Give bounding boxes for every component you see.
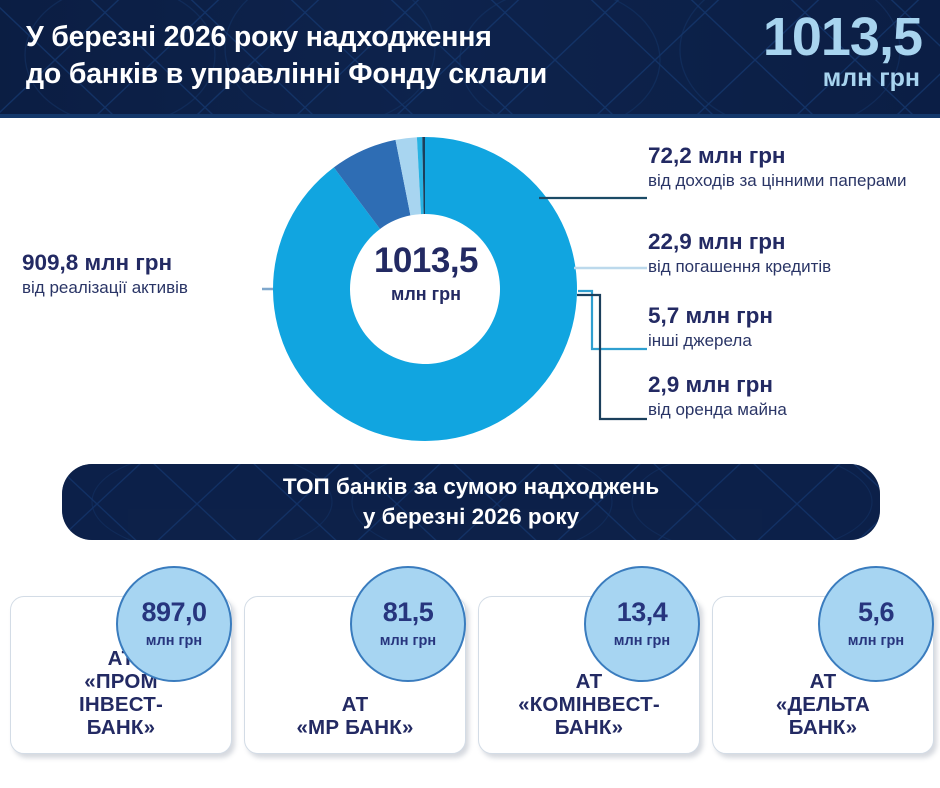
bank-amount-unit: млн грн [848, 634, 904, 649]
bank-amount-bubble: 13,4 млн грн [584, 566, 700, 682]
callout-other-value: 5,7 млн грн [648, 304, 938, 328]
callout-assets: 909,8 млн грн від реалізації активів [22, 251, 272, 297]
callout-securities: 72,2 млн грн від доходів за цінними папе… [648, 144, 938, 190]
callout-credits-value: 22,9 млн грн [648, 230, 938, 254]
bank-amount-unit: млн грн [380, 634, 436, 649]
header-banner: У березні 2026 року надходження до банкі… [0, 0, 940, 118]
callout-rent: 2,9 млн грн від оренда майна [648, 373, 938, 419]
header-title: У березні 2026 року надходження до банкі… [26, 19, 646, 93]
bank-name: АТ «КОМІНВЕСТ- БАНК» [479, 671, 699, 740]
callout-assets-value: 909,8 млн грн [22, 251, 272, 275]
callout-securities-value: 72,2 млн грн [648, 144, 938, 168]
callout-credits: 22,9 млн грн від погашення кредитів [648, 230, 938, 276]
banner-text: ТОП банків за сумою надходжень у березні… [62, 464, 880, 540]
bank-amount-unit: млн грн [146, 634, 202, 649]
bank-amount-value: 13,4 [617, 599, 668, 626]
bank-amount-bubble: 81,5 млн грн [350, 566, 466, 682]
callout-other: 5,7 млн грн інші джерела [648, 304, 938, 350]
donut-slices [273, 137, 577, 441]
bank-name: АТ «ДЕЛЬТА БАНК» [713, 671, 933, 740]
banner-line-2: у березні 2026 року [363, 502, 579, 532]
bank-name: АТ «МР БАНК» [245, 694, 465, 740]
callout-securities-desc: від доходів за цінними паперами [648, 171, 938, 191]
donut-chart-section: 1013,5 млн грн 909,8 млн грн від реаліза… [0, 118, 940, 448]
callout-assets-desc: від реалізації активів [22, 278, 272, 298]
header-total-value: 1013,5 [763, 10, 922, 64]
banner-line-1: ТОП банків за сумою надходжень [283, 472, 659, 502]
bank-cards-row: АТ «ПРОМ ІНВЕСТ- БАНК» АТ «МР БАНК» АТ «… [0, 588, 940, 768]
bank-amount-bubble: 5,6 млн грн [818, 566, 934, 682]
callout-rent-value: 2,9 млн грн [648, 373, 938, 397]
callout-rent-desc: від оренда майна [648, 400, 938, 420]
top-banks-banner: ТОП банків за сумою надходжень у березні… [62, 464, 880, 540]
leader-line-other [578, 291, 647, 349]
bank-amount-unit: млн грн [614, 634, 670, 649]
bank-amount-bubble: 897,0 млн грн [116, 566, 232, 682]
header-total-unit: млн грн [823, 66, 920, 91]
leader-line-rent [577, 295, 647, 419]
bank-amount-value: 897,0 [141, 599, 206, 626]
callout-credits-desc: від погашення кредитів [648, 257, 938, 277]
bank-amount-value: 5,6 [858, 599, 894, 626]
callout-other-desc: інші джерела [648, 331, 938, 351]
bank-amount-value: 81,5 [383, 599, 434, 626]
infographic-root: У березні 2026 року надходження до банкі… [0, 0, 940, 788]
